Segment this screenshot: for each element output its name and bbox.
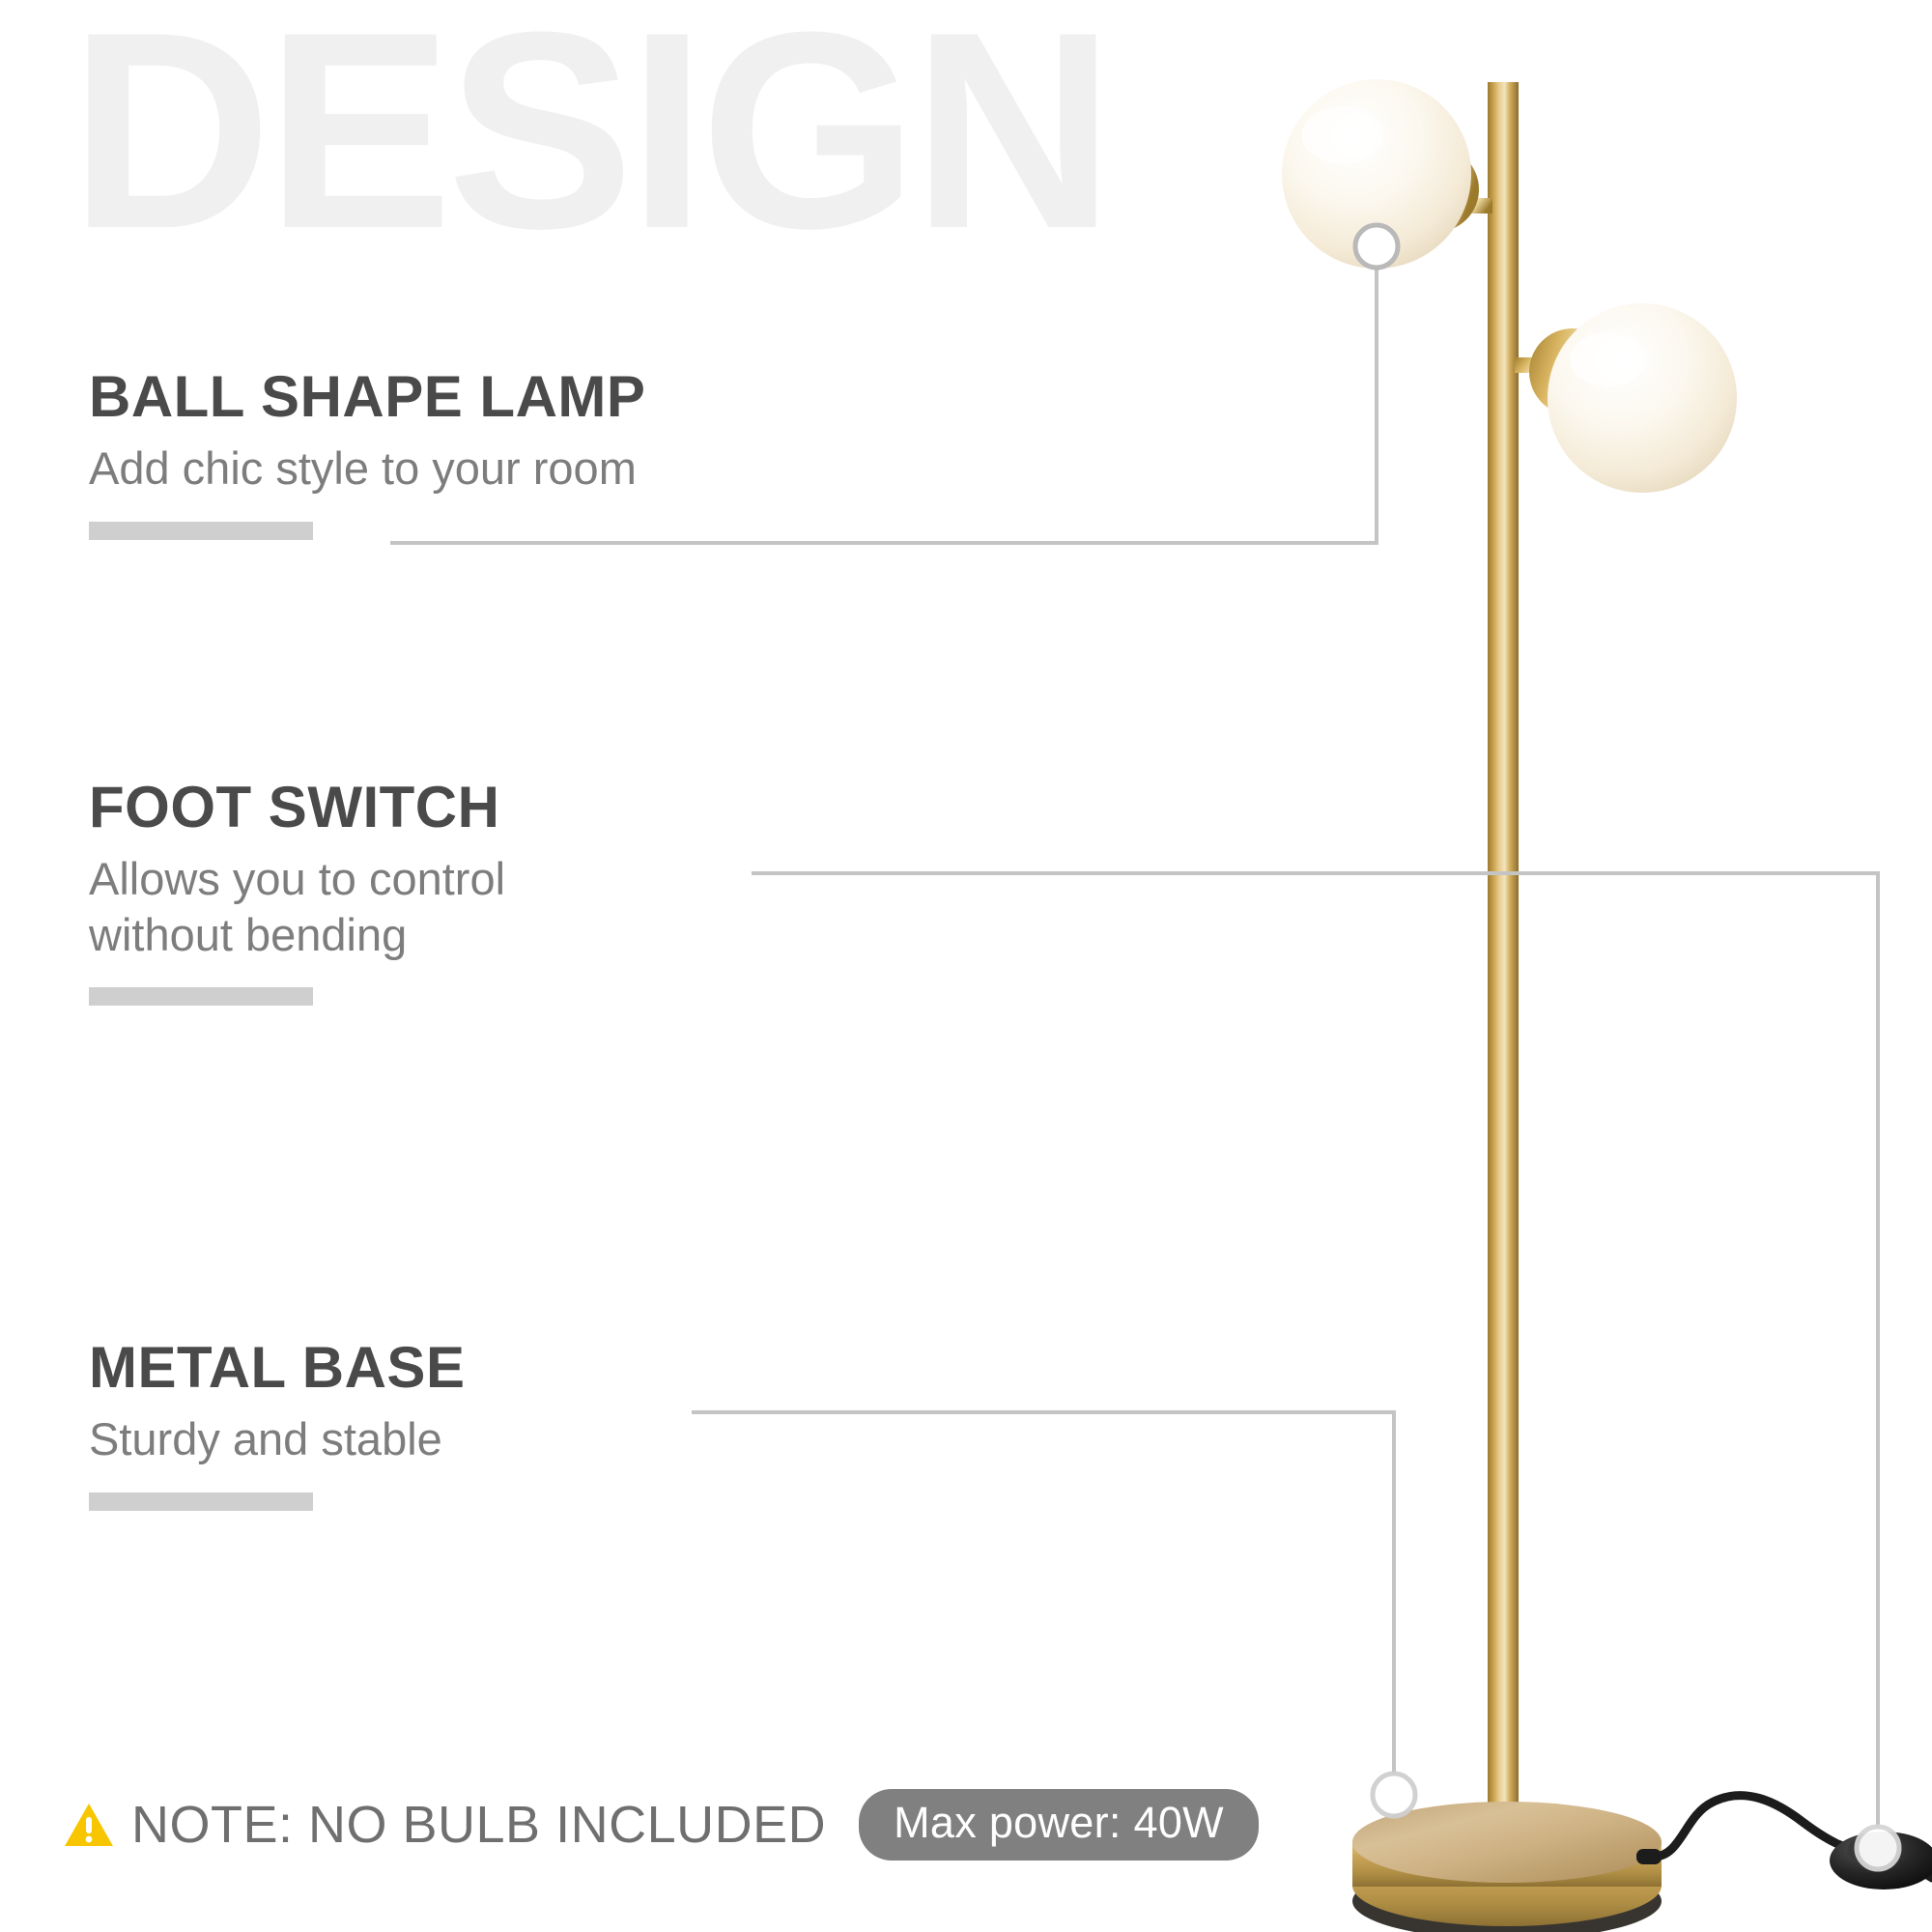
feature-block-metal-base: METAL BASE Sturdy and stable xyxy=(89,1338,465,1511)
lamp-pole xyxy=(1488,82,1519,1856)
note-text: NOTE: NO BULB INCLUDED xyxy=(131,1795,826,1855)
cord-base-grommet xyxy=(1636,1849,1662,1864)
feature-title-metal-base: METAL BASE xyxy=(89,1338,465,1398)
upper-globe-highlight xyxy=(1302,106,1383,164)
lower-globe-highlight xyxy=(1570,332,1647,386)
max-power-badge: Max power: 40W xyxy=(859,1789,1259,1861)
note-row: NOTE: NO BULB INCLUDED Max power: 40W xyxy=(64,1789,1259,1861)
lower-glass-globe xyxy=(1548,303,1737,493)
feature-subtitle-foot-switch: Allows you to control without bending xyxy=(89,851,505,962)
feature-title-ball-shape-lamp: BALL SHAPE LAMP xyxy=(89,367,645,427)
feature-subtitle-metal-base: Sturdy and stable xyxy=(89,1411,465,1466)
feature-block-foot-switch: FOOT SWITCH Allows you to control withou… xyxy=(89,778,505,1006)
feature-title-foot-switch: FOOT SWITCH xyxy=(89,778,505,838)
foot-switch-button[interactable] xyxy=(1847,1835,1897,1866)
upper-glass-globe xyxy=(1282,79,1471,269)
infographic-canvas: DESIGN xyxy=(0,0,1932,1932)
base-top-disc xyxy=(1352,1802,1662,1883)
feature-block-ball-shape-lamp: BALL SHAPE LAMP Add chic style to your r… xyxy=(89,367,645,540)
feature-accent-bar-foot-switch xyxy=(89,987,313,1006)
warning-triangle-icon xyxy=(64,1802,114,1848)
feature-subtitle-ball-shape-lamp: Add chic style to your room xyxy=(89,440,645,496)
feature-accent-bar-ball-shape-lamp xyxy=(89,522,313,540)
feature-accent-bar-metal-base xyxy=(89,1492,313,1511)
